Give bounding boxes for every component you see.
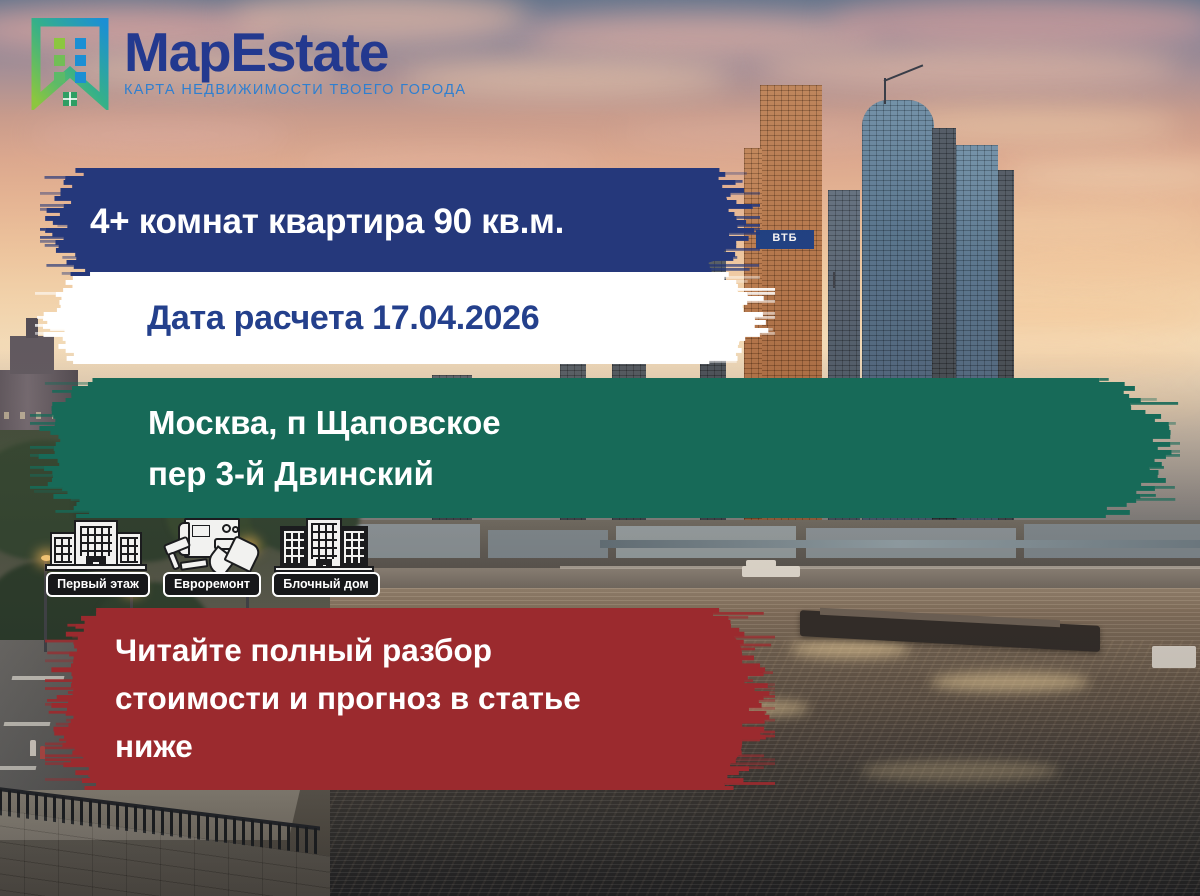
badge-euro-renovation[interactable]: Евроремонт: [158, 518, 266, 597]
cta-banner: Читайте полный разбор стоимости и прогно…: [45, 608, 775, 790]
quay-railing: [560, 566, 1200, 569]
sun-glint-1: [790, 640, 910, 658]
date-banner: Дата расчета 17.04.2026: [35, 272, 775, 364]
address-line-1: Москва, п Щаповское: [148, 397, 1180, 448]
road-marking-3: [0, 766, 36, 770]
vtb-sign: ВТБ: [756, 230, 814, 249]
brand-logo[interactable]: MapEstate КАРТА НЕДВИЖИМОСТИ ТВОЕГО ГОРО…: [30, 18, 466, 110]
cta-line-1: Читайте полный разбор: [115, 627, 775, 675]
warehouse-roofline: [600, 540, 1200, 548]
date-text: Дата расчета 17.04.2026: [35, 299, 775, 338]
brand-text: MapEstate КАРТА НЕДВИЖИМОСТИ ТВОЕГО ГОРО…: [124, 18, 466, 98]
crane-arm: [884, 64, 924, 82]
brand-tagline: КАРТА НЕДВИЖИМОСТИ ТВОЕГО ГОРОДА: [124, 82, 466, 98]
sun-glint-4: [860, 760, 1060, 782]
pedestrian-1: [30, 740, 36, 756]
address-text: Москва, п Щаповское пер 3-й Двинский: [30, 397, 1180, 499]
badge-label: Евроремонт: [163, 572, 261, 597]
vtb-sign-text: ВТБ: [756, 230, 814, 247]
industrial-shed-2: [488, 530, 608, 558]
cta-text: Читайте полный разбор стоимости и прогно…: [45, 627, 775, 771]
river-boat-1-cabin: [746, 560, 776, 567]
headline-text: 4+ комнат квартира 90 кв.м.: [40, 202, 760, 242]
address-line-2: пер 3-й Двинский: [148, 448, 1180, 499]
river-boat-1: [742, 566, 800, 577]
brand-title: MapEstate: [124, 26, 466, 78]
address-banner: Москва, п Щаповское пер 3-й Двинский: [30, 378, 1180, 518]
cta-line-2: стоимости и прогноз в статье: [115, 675, 775, 723]
cta-line-3: ниже: [115, 723, 775, 771]
antenna-mast: [833, 272, 835, 288]
promo-card: ВТБ: [0, 0, 1200, 896]
feature-badges: Первый этаж Евроремонт: [44, 518, 380, 597]
badge-block-house[interactable]: Блочный дом: [272, 518, 380, 597]
panel-apartment-block-icon: [272, 518, 380, 578]
headline-banner: 4+ комнат квартира 90 кв.м.: [40, 168, 760, 276]
sun-glint-2: [930, 672, 1090, 692]
badge-label: Первый этаж: [46, 572, 150, 597]
barge-cabin: [1152, 646, 1196, 668]
badge-label: Блочный дом: [272, 572, 379, 597]
road-marking-2: [4, 722, 51, 726]
renovation-tools-icon: [158, 518, 266, 578]
badge-first-floor[interactable]: Первый этаж: [44, 518, 152, 597]
bookmark-building-icon: [30, 18, 110, 110]
low-rise-building-icon: [44, 518, 152, 578]
